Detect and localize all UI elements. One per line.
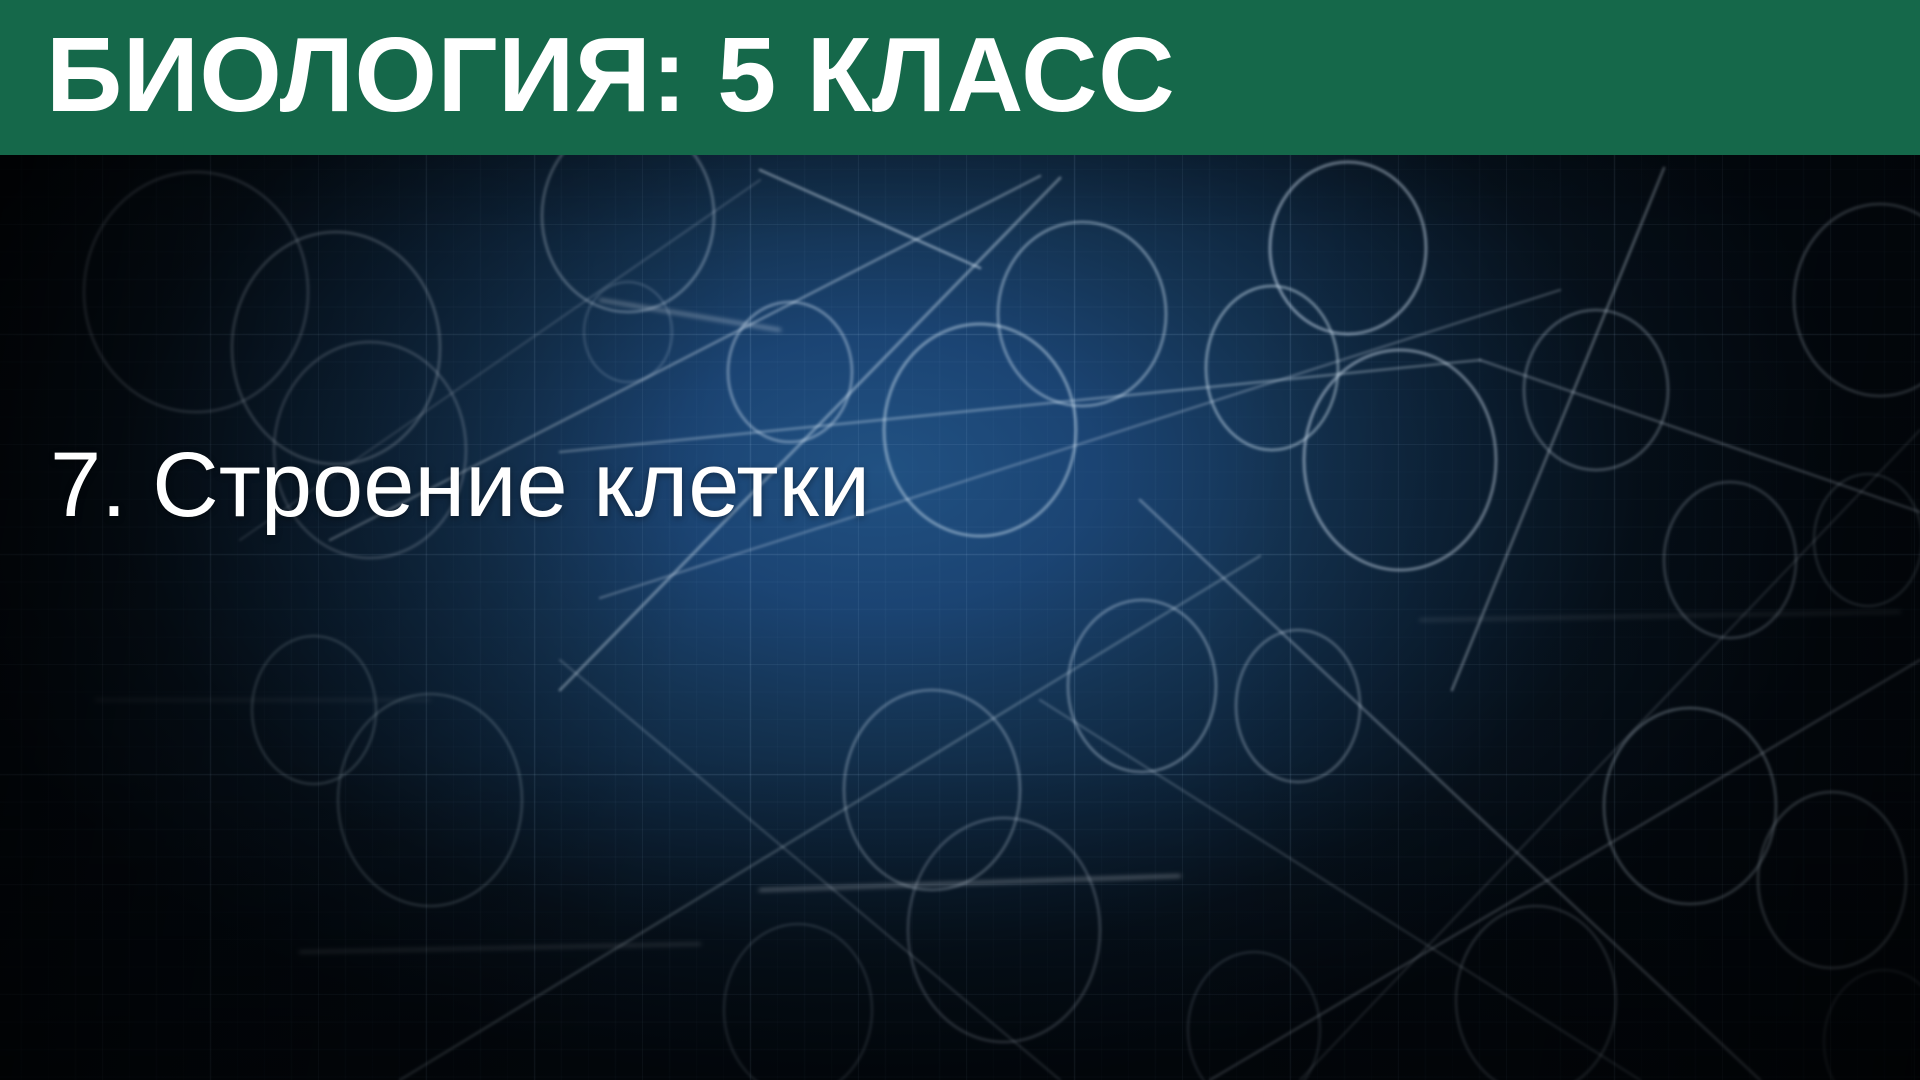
presentation-slide: БИОЛОГИЯ: 5 КЛАСС 7. Строение клетки bbox=[0, 0, 1920, 1080]
background-vignette bbox=[0, 0, 1920, 1080]
course-header-band: БИОЛОГИЯ: 5 КЛАСС bbox=[0, 0, 1920, 155]
course-title: БИОЛОГИЯ: 5 КЛАСС bbox=[0, 22, 1175, 128]
lesson-title: 7. Строение клетки bbox=[50, 434, 1920, 537]
lesson-title-container: 7. Строение клетки bbox=[0, 434, 1920, 537]
slide-background-artwork bbox=[0, 0, 1920, 1080]
